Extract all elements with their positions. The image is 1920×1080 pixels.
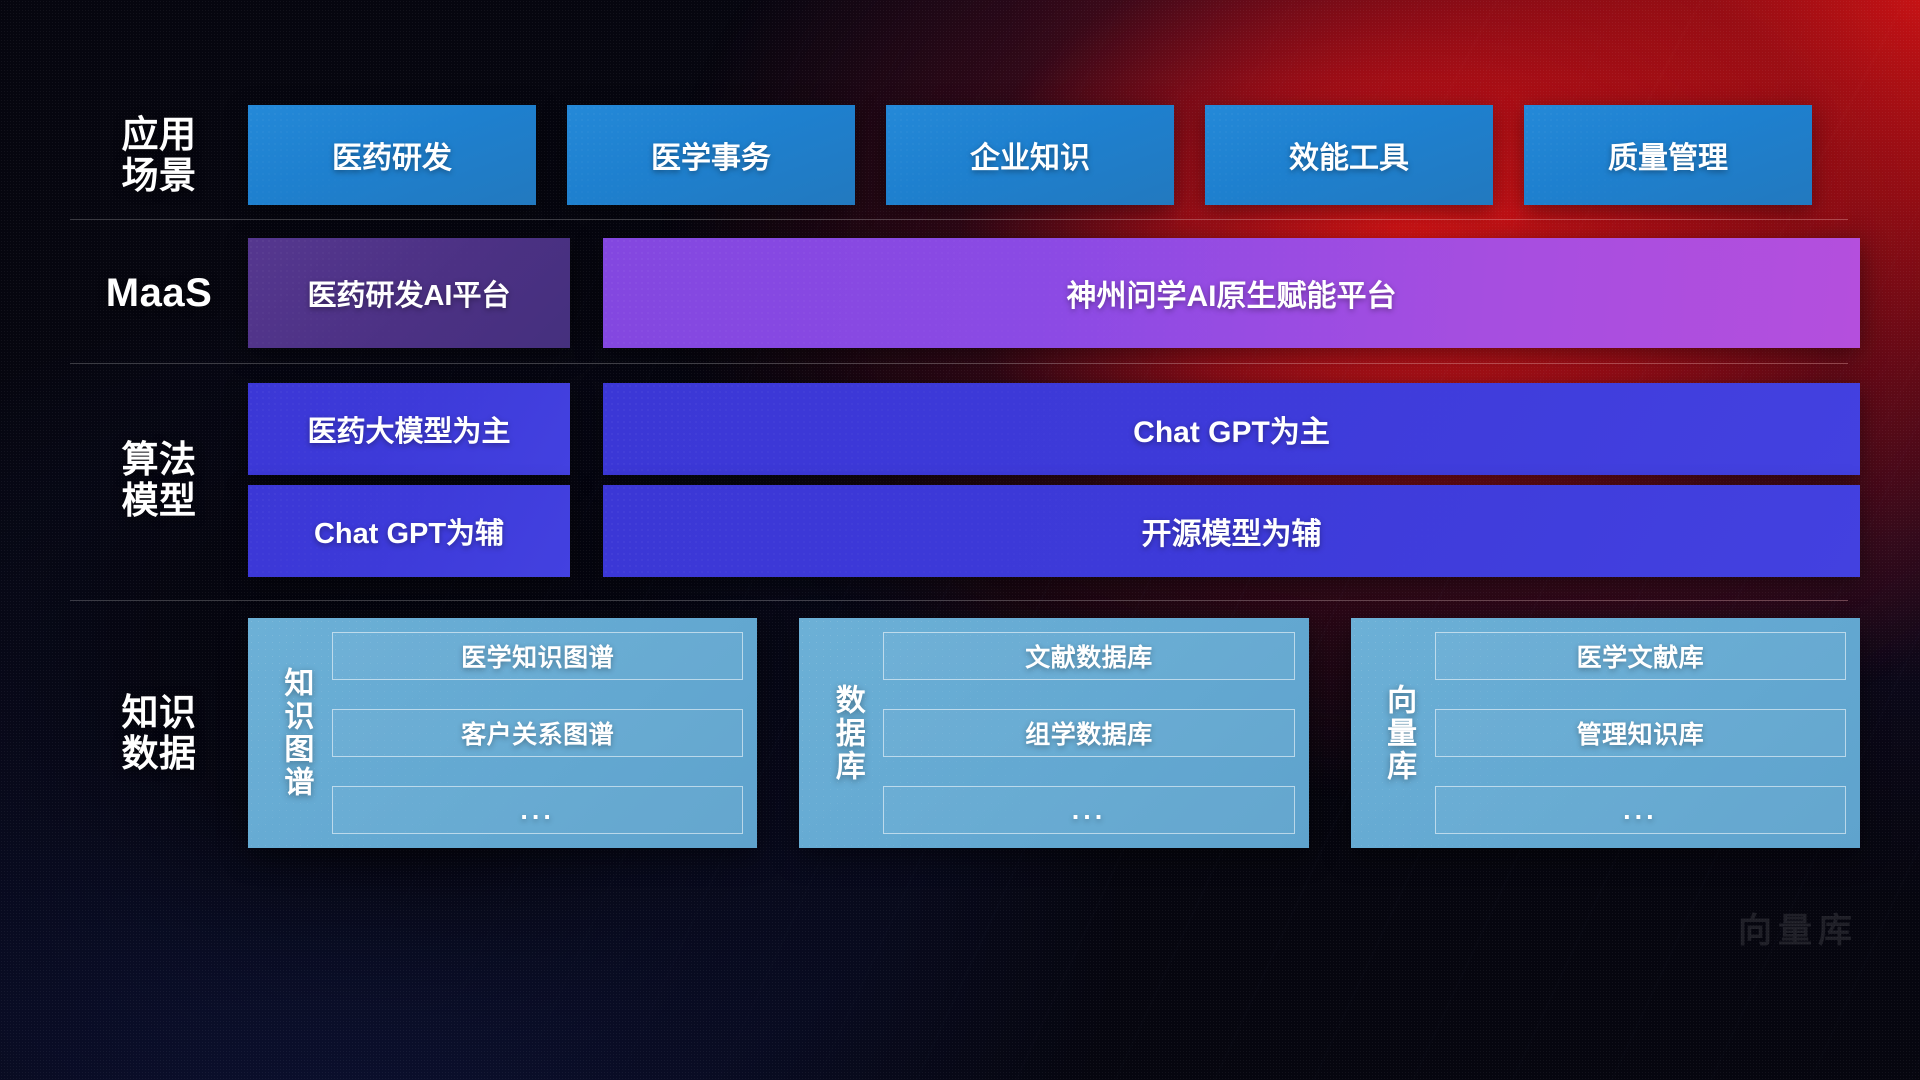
watermark-text: 向量库 — [1738, 903, 1858, 952]
application-box-efficiency-tools[interactable]: 效能工具 — [1205, 105, 1493, 205]
knowledge-item-medical-knowledge-graph[interactable]: 医学知识图谱 — [332, 632, 743, 680]
maas-box-shenzhou-wenxue-platform[interactable]: 神州问学AI原生赋能平台 — [603, 238, 1860, 348]
algorithm-row-primary: 医药大模型为主 Chat GPT为主 — [248, 383, 1860, 475]
slide-canvas: 应用 场景 医药研发 医学事务 企业知识 效能工具 — [0, 0, 1920, 1080]
row-maas: MaaS 医药研发AI平台 神州问学AI原生赋能平台 — [70, 238, 1860, 348]
knowledge-item-list: 医学文献库 管理知识库 ... — [1435, 632, 1846, 834]
maas-box-drug-rd-ai-platform[interactable]: 医药研发AI平台 — [248, 238, 570, 348]
knowledge-item-more[interactable]: ... — [1435, 786, 1846, 834]
application-box-medical-affairs[interactable]: 医学事务 — [567, 105, 855, 205]
row-knowledge-data: 知识 数据 知识图谱 医学知识图谱 客户关系图谱 ... 数据 — [70, 618, 1860, 848]
knowledge-panel-database[interactable]: 数据库 文献数据库 组学数据库 ... — [799, 618, 1308, 848]
row-application-scenarios: 应用 场景 医药研发 医学事务 企业知识 效能工具 — [70, 105, 1860, 205]
algorithm-box-chatgpt-secondary[interactable]: Chat GPT为辅 — [248, 485, 570, 577]
knowledge-item-list: 文献数据库 组学数据库 ... — [883, 632, 1294, 834]
knowledge-item-medical-literature-store[interactable]: 医学文献库 — [1435, 632, 1846, 680]
algorithm-row-secondary: Chat GPT为辅 开源模型为辅 — [248, 485, 1860, 577]
knowledge-panel-title: 知识图谱 — [258, 632, 332, 834]
knowledge-panel-list: 知识图谱 医学知识图谱 客户关系图谱 ... 数据库 文献数据库 组学数据库 .… — [248, 618, 1860, 848]
application-box-label: 医学事务 — [651, 133, 771, 177]
application-box-label: 企业知识 — [970, 133, 1090, 177]
row-label-knowledge-line2: 数据 — [70, 733, 248, 774]
algorithm-box-label: Chat GPT为辅 — [314, 510, 504, 552]
application-box-quality-management[interactable]: 质量管理 — [1524, 105, 1812, 205]
knowledge-item-customer-relation-graph[interactable]: 客户关系图谱 — [332, 709, 743, 757]
divider-algorithm-knowledge — [70, 600, 1848, 601]
row-label-application-line2: 场景 — [70, 155, 248, 196]
application-box-drug-rd[interactable]: 医药研发 — [248, 105, 536, 205]
row-label-algorithm-line2: 模型 — [70, 480, 248, 521]
architecture-diagram: 应用 场景 医药研发 医学事务 企业知识 效能工具 — [0, 0, 1920, 1080]
application-box-label: 效能工具 — [1289, 133, 1409, 177]
application-box-enterprise-knowledge[interactable]: 企业知识 — [886, 105, 1174, 205]
application-box-label: 质量管理 — [1608, 133, 1728, 177]
knowledge-panel-vector-store[interactable]: 向量库 医学文献库 管理知识库 ... — [1351, 618, 1860, 848]
maas-box-list: 医药研发AI平台 神州问学AI原生赋能平台 — [248, 238, 1860, 348]
row-label-knowledge: 知识 数据 — [70, 692, 248, 775]
algorithm-box-label: 医药大模型为主 — [307, 408, 510, 450]
knowledge-panel-knowledge-graph[interactable]: 知识图谱 医学知识图谱 客户关系图谱 ... — [248, 618, 757, 848]
row-label-algorithm-line1: 算法 — [70, 439, 248, 480]
row-label-knowledge-line1: 知识 — [70, 692, 248, 733]
row-label-algorithm: 算法 模型 — [70, 439, 248, 522]
row-label-application: 应用 场景 — [70, 114, 248, 197]
algorithm-box-label: Chat GPT为主 — [1133, 407, 1330, 451]
row-algorithm-model: 算法 模型 医药大模型为主 Chat GPT为主 — [70, 383, 1860, 577]
application-box-label: 医药研发 — [332, 133, 452, 177]
algorithm-grid: 医药大模型为主 Chat GPT为主 Chat GPT为辅 开源模型为辅 — [248, 383, 1860, 577]
knowledge-item-more[interactable]: ... — [332, 786, 743, 834]
algorithm-box-medical-llm-primary[interactable]: 医药大模型为主 — [248, 383, 570, 475]
knowledge-item-literature-database[interactable]: 文献数据库 — [883, 632, 1294, 680]
row-label-application-line1: 应用 — [70, 114, 248, 155]
knowledge-item-omics-database[interactable]: 组学数据库 — [883, 709, 1294, 757]
row-label-maas-text: MaaS — [70, 271, 248, 316]
divider-application-maas — [70, 219, 1848, 220]
maas-box-label: 神州问学AI原生赋能平台 — [1067, 271, 1397, 315]
knowledge-item-management-knowledge-base[interactable]: 管理知识库 — [1435, 709, 1846, 757]
row-label-maas: MaaS — [70, 271, 248, 316]
algorithm-box-label: 开源模型为辅 — [1142, 509, 1322, 553]
knowledge-item-more[interactable]: ... — [883, 786, 1294, 834]
algorithm-box-chatgpt-primary[interactable]: Chat GPT为主 — [603, 383, 1860, 475]
divider-maas-algorithm — [70, 363, 1848, 364]
application-box-list: 医药研发 医学事务 企业知识 效能工具 质量管理 — [248, 105, 1860, 205]
algorithm-box-opensource-secondary[interactable]: 开源模型为辅 — [603, 485, 1860, 577]
maas-box-label: 医药研发AI平台 — [307, 272, 510, 314]
knowledge-panel-title: 向量库 — [1361, 632, 1435, 834]
knowledge-item-list: 医学知识图谱 客户关系图谱 ... — [332, 632, 743, 834]
knowledge-panel-title: 数据库 — [809, 632, 883, 834]
